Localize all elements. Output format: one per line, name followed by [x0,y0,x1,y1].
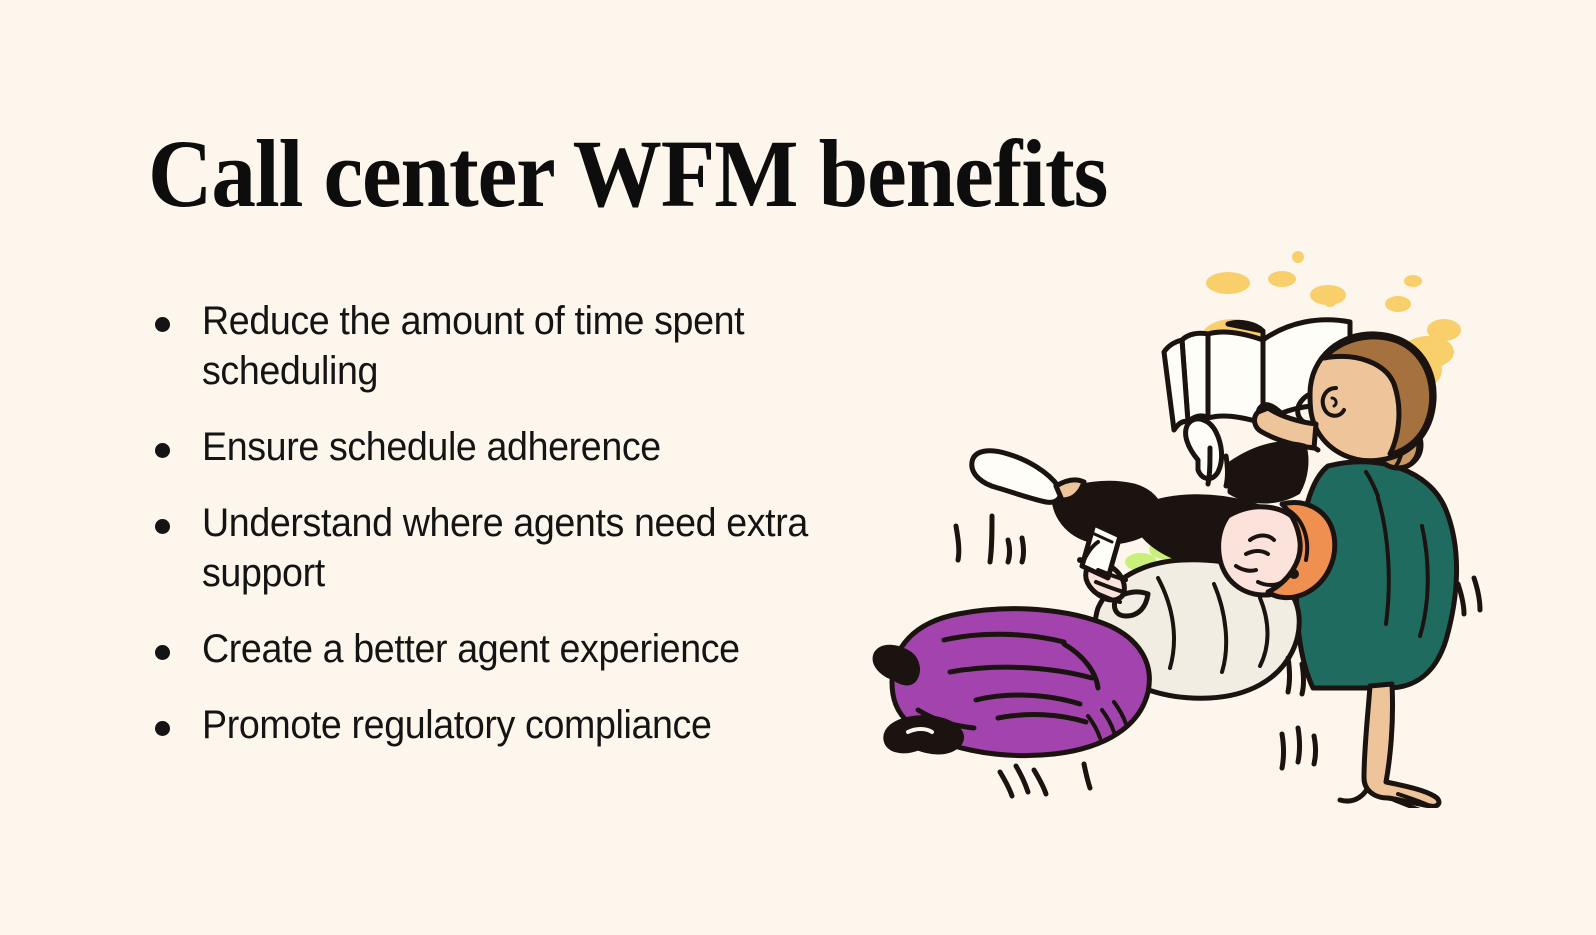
bullet-dot-icon [155,519,170,534]
page-title: Call center WFM benefits [148,126,1078,222]
list-item: Ensure schedule adherence [150,422,850,472]
list-item: Understand where agents need extra suppo… [150,498,850,598]
list-item: Promote regulatory compliance [150,700,850,750]
bullet-dot-icon [155,317,170,332]
slide-canvas: Call center WFM benefits Reduce the amou… [0,0,1596,935]
benefit-label: Reduce the amount of time spent scheduli… [202,296,811,396]
benefit-label: Create a better agent experience [202,624,811,674]
bullet-dot-icon [155,443,170,458]
benefit-label: Understand where agents need extra suppo… [202,498,811,598]
list-item: Create a better agent experience [150,624,850,674]
illustration-two-people-relaxing [858,248,1488,808]
benefit-label: Ensure schedule adherence [202,422,811,472]
bullet-dot-icon [155,721,170,736]
benefit-label: Promote regulatory compliance [202,700,811,750]
bullet-dot-icon [155,645,170,660]
list-item: Reduce the amount of time spent scheduli… [150,296,850,396]
benefits-list: Reduce the amount of time spent scheduli… [150,296,850,750]
